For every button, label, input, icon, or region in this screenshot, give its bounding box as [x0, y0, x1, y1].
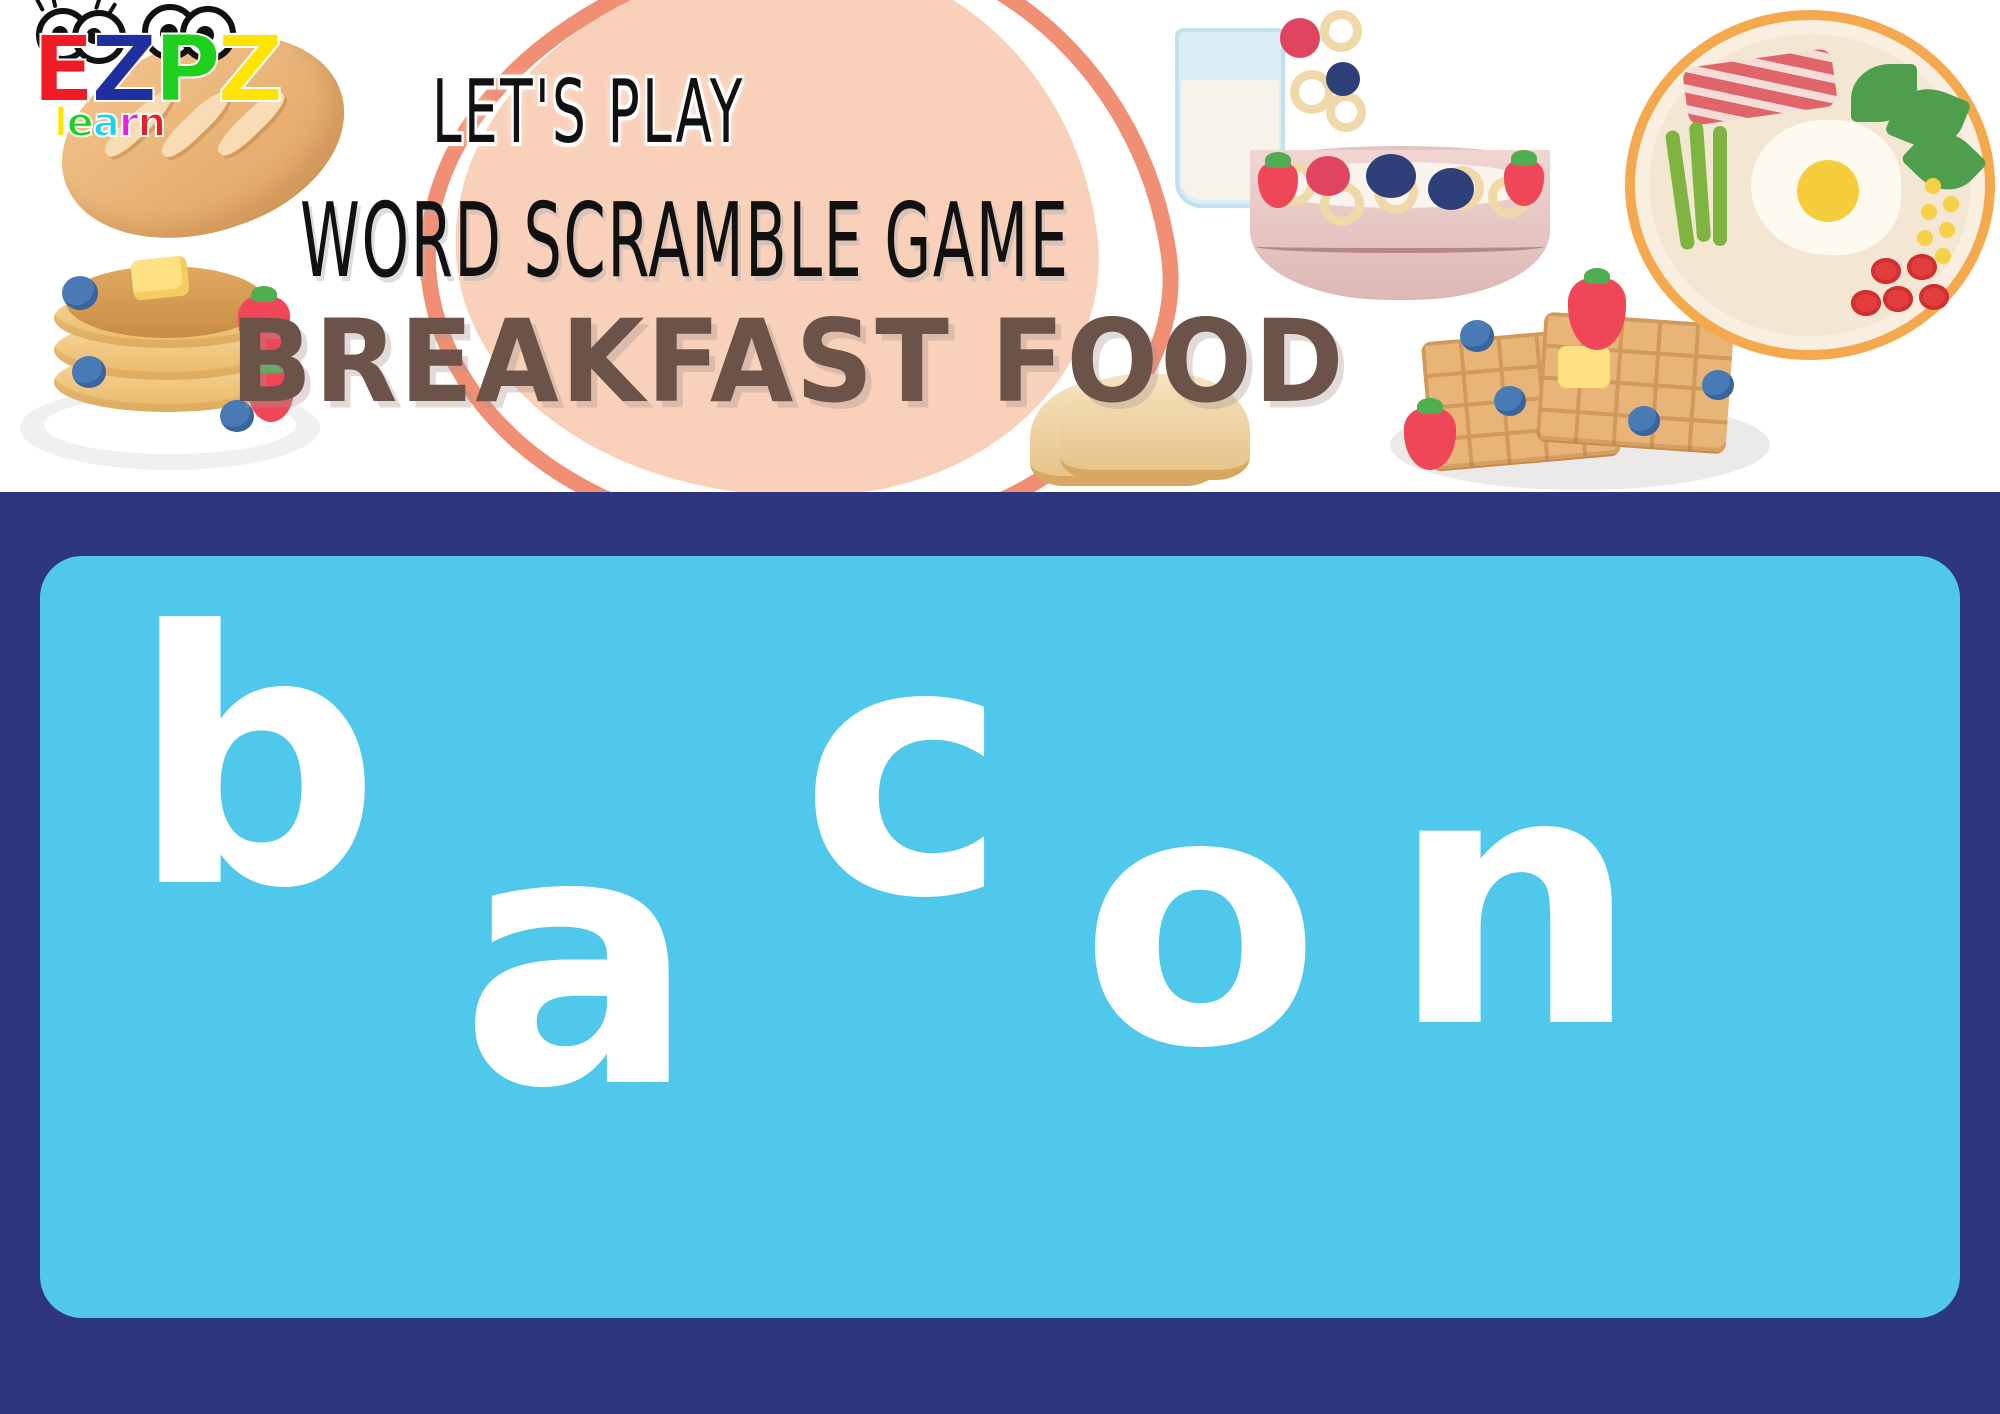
logo-letter-p: P — [154, 32, 217, 107]
scramble-letter-n[interactable]: n — [1390, 726, 1639, 1076]
logo-letter-z1: Z — [91, 32, 154, 107]
logo-sub-r: r — [119, 100, 138, 146]
breakfast-plate-icon — [1625, 10, 1995, 360]
logo-sub-e: e — [67, 100, 93, 146]
lets-play-heading: LET'S PLAY — [432, 62, 745, 163]
logo-sub-l: l — [54, 100, 67, 146]
logo-sub-a: a — [93, 100, 119, 146]
topic-title: BREAKFAST FOOD — [230, 296, 1346, 429]
header-banner: E Z P Z l e a r n LET'S PLAY WORD SCRAMB… — [0, 0, 2000, 492]
ezpz-learn-logo[interactable]: E Z P Z l e a r n — [14, 4, 244, 154]
game-title-heading: WORD SCRAMBLE GAME — [300, 182, 1070, 301]
scramble-letter-a[interactable]: a — [460, 786, 696, 1136]
logo-sub-n: n — [138, 100, 165, 146]
scrambled-letters: b a c o n — [40, 556, 1960, 1318]
scramble-letter-c[interactable]: c — [800, 596, 1007, 946]
scramble-letter-o[interactable]: o — [1080, 746, 1320, 1096]
cereal-bowl-icon — [1250, 110, 1550, 300]
worksheet-page: E Z P Z l e a r n LET'S PLAY WORD SCRAMB… — [0, 0, 2000, 1414]
logo-letter-z2: Z — [217, 32, 280, 107]
logo-subword: l e a r n — [54, 100, 165, 146]
logo-wordmark: E Z P Z — [32, 32, 280, 107]
logo-letter-e: E — [32, 32, 91, 107]
footer-bar: FLASHCARDS, WORKSEETS, GAMES AND COLORIN… — [0, 1318, 2000, 1414]
scramble-letter-b[interactable]: b — [130, 586, 381, 936]
